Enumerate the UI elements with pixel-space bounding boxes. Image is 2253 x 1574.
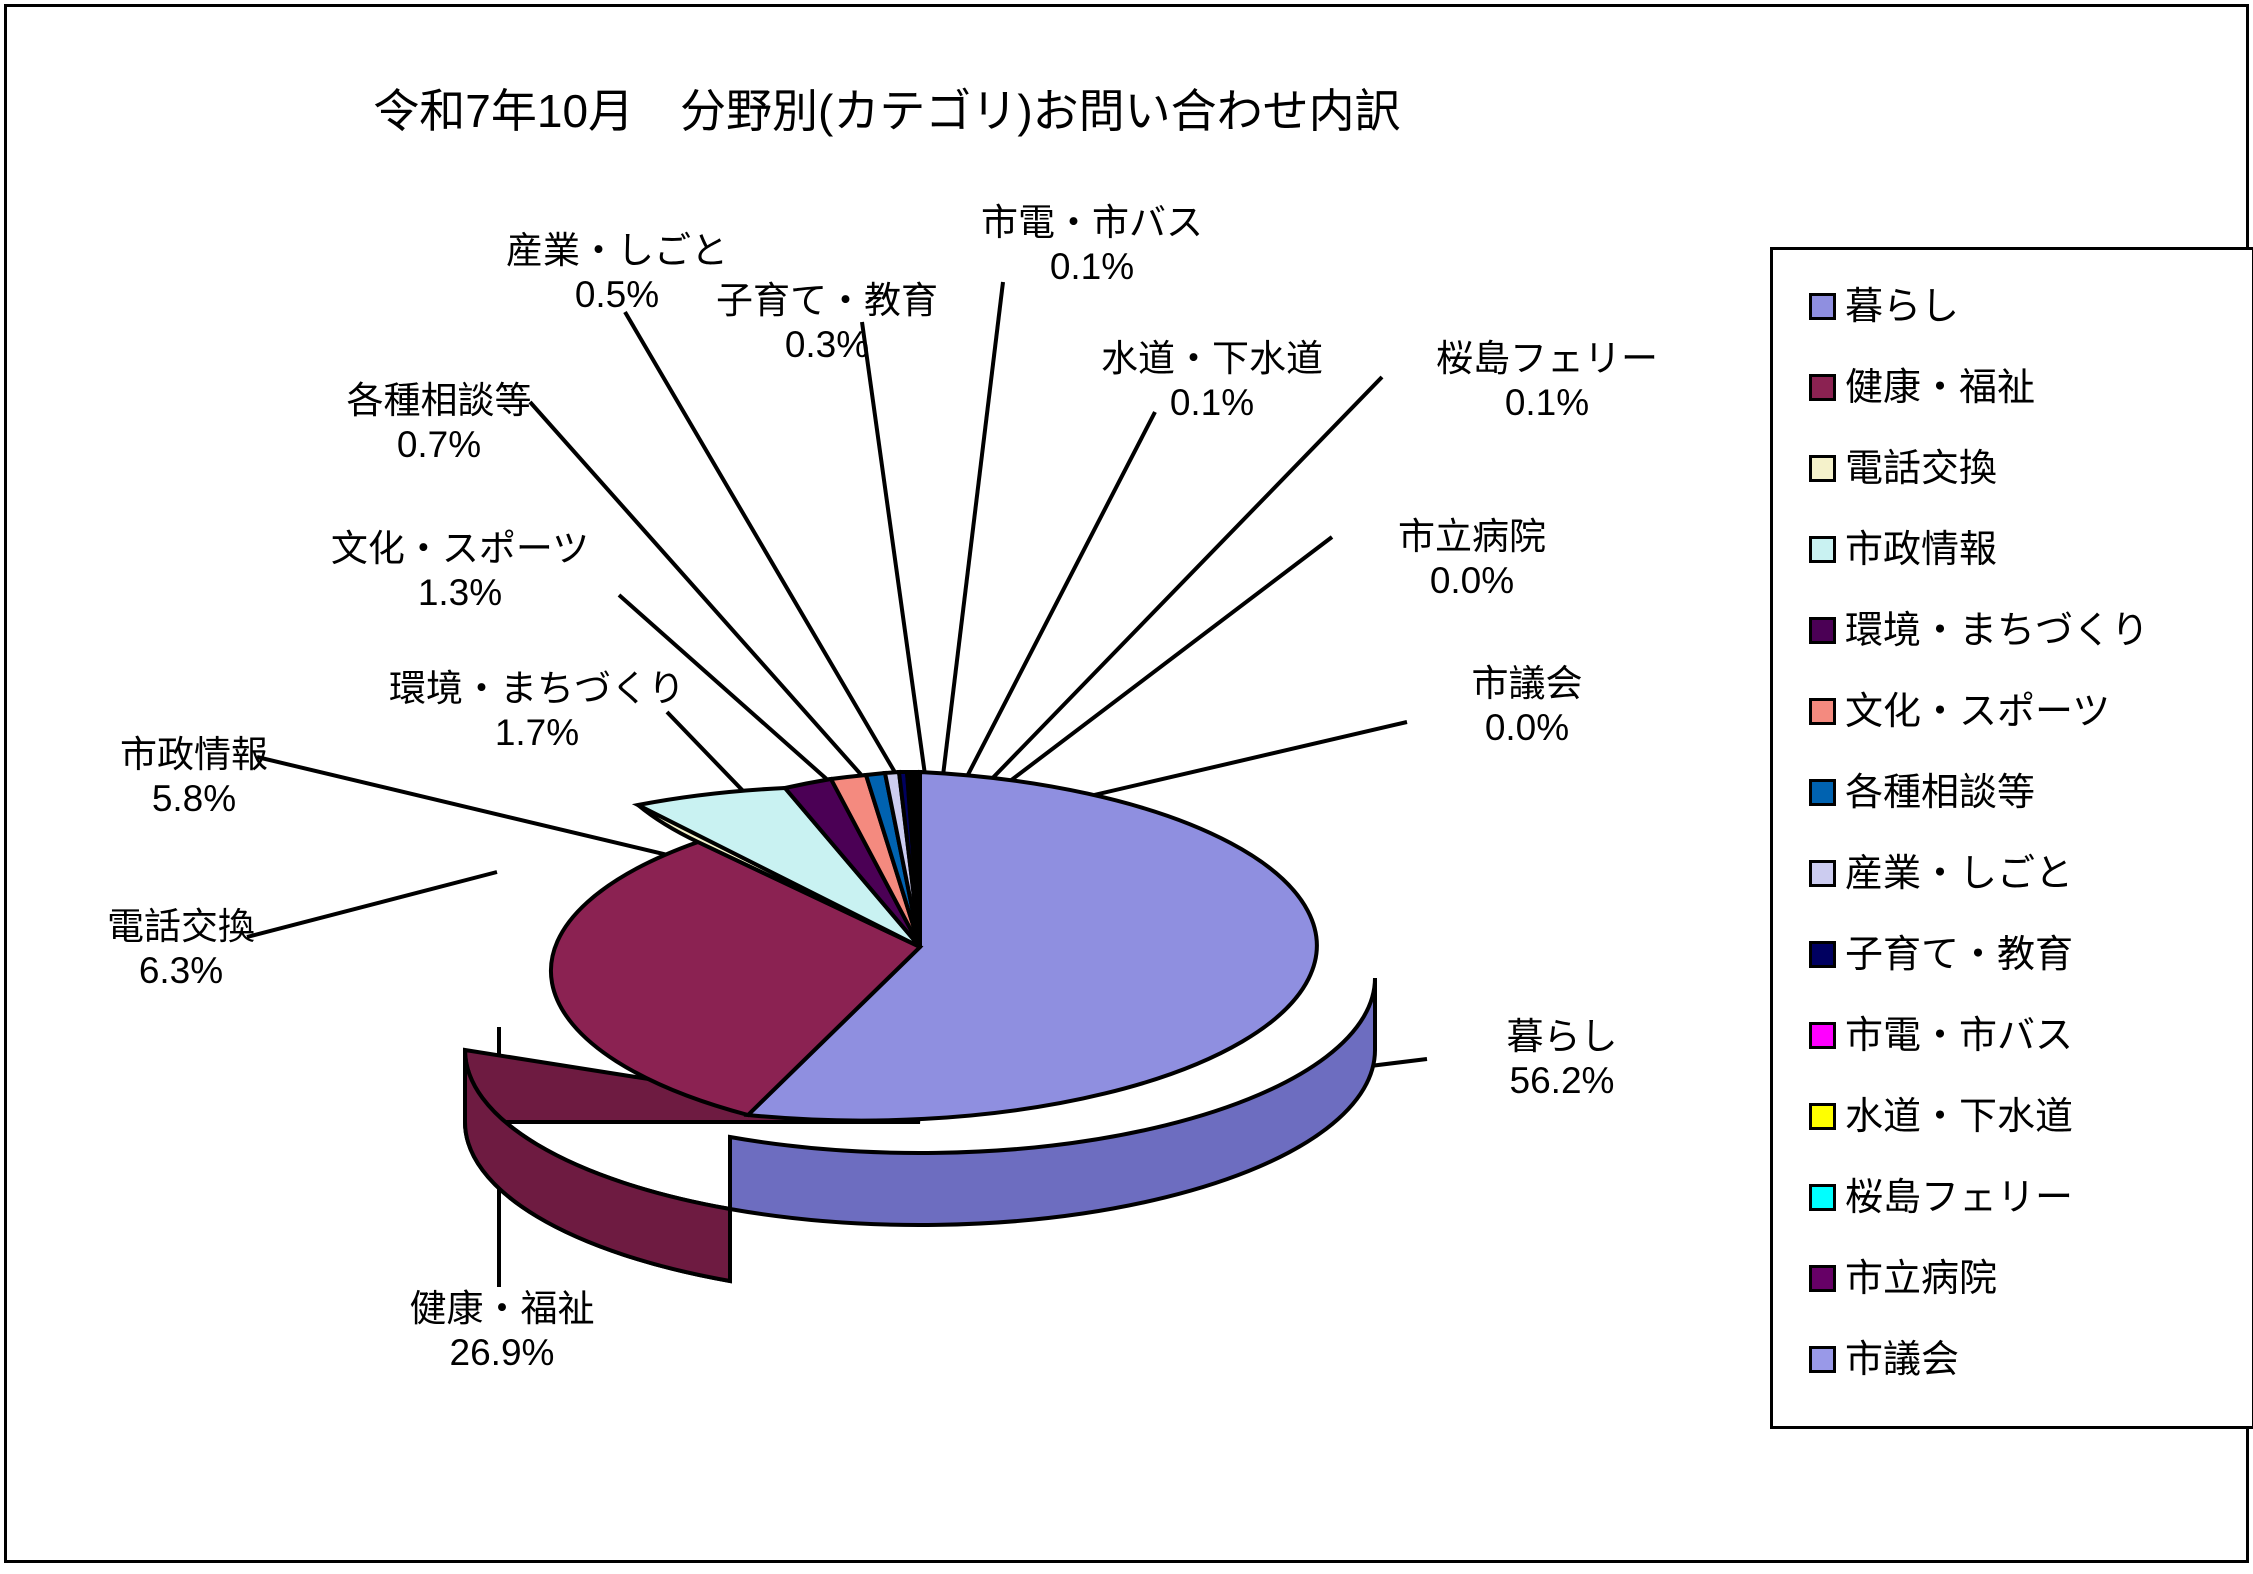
callout-health: 健康・福祉 26.9% (357, 1287, 647, 1374)
legend-swatch-icon (1809, 698, 1836, 725)
legend-item[interactable]: 暮らし (1809, 266, 2239, 347)
legend-item[interactable]: 市立病院 (1809, 1238, 2239, 1319)
legend-swatch-icon (1809, 617, 1836, 644)
legend-swatch-icon (1809, 1022, 1836, 1049)
callout-ferry: 桜島フェリー 0.1% (1397, 337, 1697, 424)
legend-swatch-icon (1809, 941, 1836, 968)
legend-item[interactable]: 健康・福祉 (1809, 347, 2239, 428)
legend-item[interactable]: 各種相談等 (1809, 752, 2239, 833)
legend-item-label: 市政情報 (1845, 531, 1997, 569)
legend-swatch-icon (1809, 1346, 1836, 1373)
callout-consultation: 各種相談等 0.7% (279, 379, 599, 466)
legend-swatch-icon (1809, 293, 1836, 320)
legend-item-label: 環境・まちづくり (1845, 612, 2149, 650)
legend-item-label: 電話交換 (1845, 450, 1997, 488)
legend-swatch-icon (1809, 860, 1836, 887)
legend-item[interactable]: 産業・しごと (1809, 833, 2239, 914)
legend-item-label: 各種相談等 (1845, 774, 2035, 812)
legend-item-label: 市議会 (1845, 1341, 1959, 1379)
legend-item[interactable]: 水道・下水道 (1809, 1076, 2239, 1157)
legend-item[interactable]: 電話交換 (1809, 428, 2239, 509)
chart-frame: 令和7年10月 分野別(カテゴリ)お問い合わせ内訳 (4, 4, 2249, 1563)
legend-item-label: 水道・下水道 (1845, 1098, 2073, 1136)
callout-environment: 環境・まちづくり 1.7% (327, 667, 747, 754)
legend-item-label: 暮らし (1845, 288, 1959, 326)
legend-item[interactable]: 桜島フェリー (1809, 1157, 2239, 1238)
legend-swatch-icon (1809, 779, 1836, 806)
legend-item-label: 子育て・教育 (1845, 936, 2073, 974)
legend-swatch-icon (1809, 1265, 1836, 1292)
legend-item-label: 市立病院 (1845, 1260, 1997, 1298)
callout-tram-bus: 市電・市バス 0.1% (942, 201, 1242, 288)
legend-item[interactable]: 子育て・教育 (1809, 914, 2239, 995)
callout-childcare: 子育て・教育 0.3% (677, 279, 977, 366)
legend-item-label: 文化・スポーツ (1845, 693, 2110, 731)
callout-culture: 文化・スポーツ 1.3% (295, 527, 625, 614)
legend-swatch-icon (1809, 1103, 1836, 1130)
legend-box: 暮らし健康・福祉電話交換市政情報環境・まちづくり文化・スポーツ各種相談等産業・し… (1770, 247, 2253, 1429)
legend-item[interactable]: 環境・まちづくり (1809, 590, 2239, 671)
legend-item-label: 市電・市バス (1845, 1017, 2073, 1055)
legend-item-label: 産業・しごと (1845, 855, 2073, 893)
callout-switchboard: 電話交換 6.3% (41, 905, 321, 992)
legend-swatch-icon (1809, 455, 1836, 482)
legend-swatch-icon (1809, 536, 1836, 563)
callout-hospital: 市立病院 0.0% (1347, 515, 1597, 602)
legend-swatch-icon (1809, 374, 1836, 401)
legend-item-label: 桜島フェリー (1845, 1179, 2073, 1217)
legend-item[interactable]: 文化・スポーツ (1809, 671, 2239, 752)
legend-item[interactable]: 市政情報 (1809, 509, 2239, 590)
legend-list: 暮らし健康・福祉電話交換市政情報環境・まちづくり文化・スポーツ各種相談等産業・し… (1809, 266, 2239, 1400)
legend-item[interactable]: 市電・市バス (1809, 995, 2239, 1076)
callout-assembly: 市議会 0.0% (1417, 662, 1637, 749)
legend-item[interactable]: 市議会 (1809, 1319, 2239, 1400)
legend-item-label: 健康・福祉 (1845, 369, 2035, 407)
callout-kurashi: 暮らし 56.2% (1432, 1015, 1692, 1102)
callout-cityinfo: 市政情報 5.8% (59, 733, 329, 820)
slice-assembly (919, 772, 920, 947)
callout-water: 水道・下水道 0.1% (1062, 337, 1362, 424)
pie-top-face (551, 772, 1317, 1121)
legend-swatch-icon (1809, 1184, 1836, 1211)
